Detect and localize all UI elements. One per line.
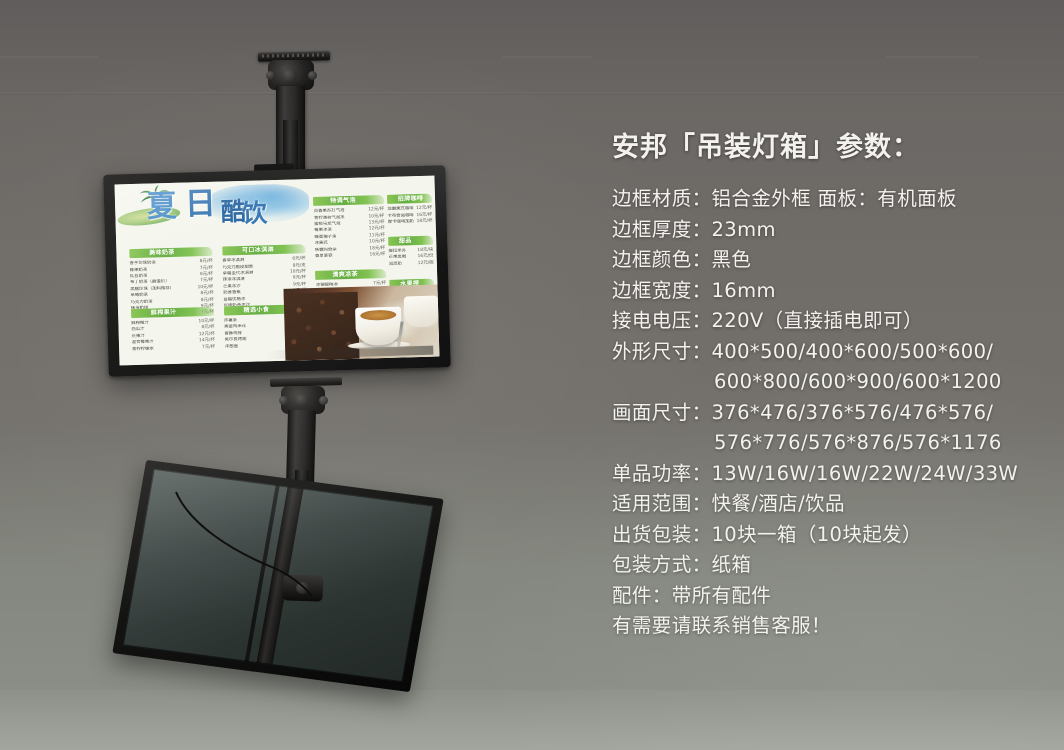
menu-section-header-label: 美味奶茶 [149, 248, 175, 258]
coffee-cup-front [355, 307, 402, 346]
spec-line: 出货包装：10块一箱（10块起发） [612, 520, 1048, 551]
menu-item-name: 青柠柠檬水 [132, 346, 154, 353]
menu-item-name: 摩卡咖啡加奶 [388, 219, 414, 226]
menu-title-char-4: 饮 [242, 200, 268, 226]
menu-title-char-2: 日 [184, 189, 216, 221]
coffee-cup-back [404, 296, 439, 327]
menu-item-list: 百香果苏打气泡12元/杯青柠薄荷气泡水10元/杯蜜桃乌龙气泡13元/杯莓果冰茶1… [314, 207, 386, 260]
menu-section-header: 美味奶茶 [129, 247, 212, 258]
menu-section-header-label: 精选小食 [244, 305, 270, 315]
menu-section-header-label: 鲜榨果汁 [151, 308, 177, 318]
menu-item-price: 18元/杯 [414, 219, 433, 226]
spec-line: 有需要请联系销售客服！ [612, 611, 1048, 642]
lightbox-menu-panel: 夏 日 酷 饮 美味奶茶 香芋珍珠奶茶8元/杯椰果奶茶7元/杯红豆奶茶8元/杯布… [115, 176, 440, 366]
lower-joint-bolt-right [319, 396, 328, 405]
page-title: 安邦「吊装灯箱」参数： [612, 125, 1048, 164]
menu-section-header-label: 可口冰淇淋 [242, 245, 274, 255]
spec-line: 边框厚度：23mm [612, 215, 1048, 246]
spec-line: 画面尺寸：376*476/376*576/476*576/ [612, 398, 1048, 429]
wall-seam-right [886, 56, 978, 58]
spec-line: 适用范围：快餐/酒店/饮品 [612, 489, 1048, 520]
menu-section-2: 鲜榨果汁 鲜榨橙汁10元/杯西瓜汁8元/杯芒果汁12元/杯混合莓果汁14元/杯青… [131, 307, 215, 353]
spec-line: 包装方式：纸箱 [612, 550, 1048, 581]
menu-item-list: 现磨美式咖啡12元/杯卡布奇诺咖啡16元/杯摩卡咖啡加奶18元/杯 [387, 206, 432, 226]
menu-section-header: 招牌咖啡 [387, 194, 432, 204]
menu-item-name: 双皮奶 [389, 261, 402, 268]
lower-joint-bolt-left [279, 396, 288, 405]
menu-item-name: 洋葱圈 [225, 344, 238, 351]
wall-seam-mid [502, 56, 592, 58]
spec-line-list: 边框材质：铝合金外框 面板：有机面板边框厚度：23mm边框颜色：黑色边框宽度：1… [612, 184, 1048, 642]
menu-section-header-label: 清爽凉茶 [332, 270, 358, 280]
spec-line: 外形尺寸：400*500/400*600/500*600/ [612, 337, 1048, 368]
product-photo-scene: 夏 日 酷 饮 美味奶茶 香芋珍珠奶茶8元/杯椰果奶茶7元/杯红豆奶茶8元/杯布… [0, 0, 1064, 750]
menu-item: 双皮奶12元/碗 [389, 260, 434, 268]
menu-section-header: 鲜榨果汁 [131, 307, 214, 318]
menu-item: 香草拿铁16元/杯 [315, 252, 386, 260]
menu-item-price: 16元/杯 [366, 252, 385, 259]
ceiling-surface [0, 0, 1064, 96]
upper-joint-bolt-left [266, 71, 275, 80]
spec-line: 接电电压：220V（直接插电即可） [612, 306, 1048, 337]
ceiling-lightbox-front: 夏 日 酷 饮 美味奶茶 香芋珍珠奶茶8元/杯椰果奶茶7元/杯红豆奶茶8元/杯布… [103, 165, 451, 376]
wall-seam-left [0, 56, 98, 58]
floor-surface [0, 690, 1064, 750]
specification-panel: 安邦「吊装灯箱」参数： 边框材质：铝合金外框 面板：有机面板边框厚度：23mm边… [612, 125, 1048, 642]
menu-section-7: 甜品 提拉米苏18元/块芒果班戟16元/份双皮奶12元/碗 [388, 235, 434, 267]
ceiling-lightbox-rear [112, 460, 444, 692]
menu-section-header-label: 招牌咖啡 [398, 194, 424, 204]
spec-line: 边框材质：铝合金外框 面板：有机面板 [612, 184, 1048, 215]
menu-section-header-label: 特调气泡 [330, 196, 356, 206]
menu-item-price: 7元/杯 [199, 344, 215, 351]
spec-line: 边框宽度：16mm [612, 276, 1048, 307]
menu-item-list: 提拉米苏18元/块芒果班戟16元/份双皮奶12元/碗 [388, 247, 433, 267]
spec-line: 600*800/600*900/600*1200 [612, 367, 1048, 398]
spec-line: 边框颜色：黑色 [612, 245, 1048, 276]
menu-item-name: 香草拿铁 [315, 253, 333, 260]
upper-joint-bolt-right [308, 71, 317, 80]
spec-line: 单品功率：13W/16W/16W/22W/24W/33W [612, 459, 1048, 490]
menu-section-header: 清爽凉茶 [315, 269, 386, 280]
menu-item-list: 鲜榨橙汁10元/杯西瓜汁8元/杯芒果汁12元/杯混合莓果汁14元/杯青柠柠檬水7… [131, 319, 215, 353]
menu-section-header: 甜品 [388, 235, 433, 245]
menu-title-zone: 夏 日 酷 饮 [115, 179, 328, 246]
menu-section-6: 招牌咖啡 现磨美式咖啡12元/杯卡布奇诺咖啡16元/杯摩卡咖啡加奶18元/杯 [387, 194, 433, 226]
menu-title-char-1: 夏 [146, 191, 177, 222]
spec-line: 配件：带所有配件 [612, 581, 1048, 612]
rear-lightbox-clamp [283, 574, 324, 601]
menu-section-header: 特调气泡 [313, 195, 384, 206]
menu-item-price: 12元/碗 [415, 260, 434, 267]
menu-section-4: 特调气泡 百香果苏打气泡12元/杯青柠薄荷气泡水10元/杯蜜桃乌龙气泡13元/杯… [313, 195, 385, 260]
menu-section-header-label: 甜品 [399, 236, 412, 245]
menu-artwork: 夏 日 酷 饮 美味奶茶 香芋珍珠奶茶8元/杯椰果奶茶7元/杯红豆奶茶8元/杯布… [115, 176, 440, 366]
menu-section-header: 可口冰淇淋 [222, 244, 305, 255]
menu-item: 摩卡咖啡加奶18元/杯 [388, 219, 433, 227]
spec-line: 576*776/576*876/576*1176 [612, 428, 1048, 459]
menu-item: 青柠柠檬水7元/杯 [132, 344, 215, 353]
